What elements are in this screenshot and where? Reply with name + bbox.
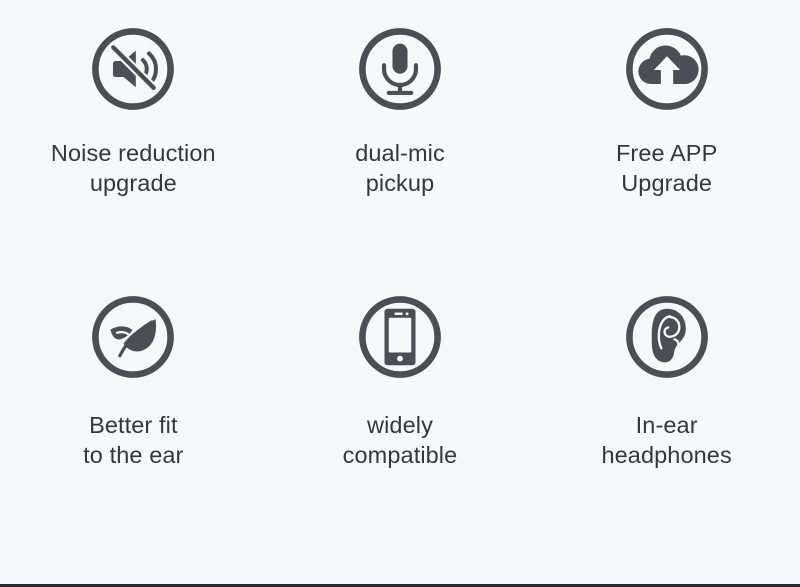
- feature-item-in-ear-headphones[interactable]: In-ear headphones: [533, 290, 800, 558]
- feature-label: In-ear headphones: [601, 410, 731, 470]
- feature-item-better-fit[interactable]: Better fit to the ear: [0, 290, 267, 558]
- ear-icon: [620, 290, 714, 384]
- feature-item-free-app-upgrade[interactable]: Free APP Upgrade: [533, 22, 800, 290]
- feature-label: Free APP Upgrade: [616, 138, 717, 198]
- feature-item-noise-reduction[interactable]: Noise reduction upgrade: [0, 22, 267, 290]
- smartphone-icon: [353, 290, 447, 384]
- feature-label: Better fit to the ear: [83, 410, 183, 470]
- feature-grid: Noise reduction upgrade dual-mic pickup …: [0, 0, 800, 584]
- feature-label: widely compatible: [343, 410, 458, 470]
- mute-speaker-icon: [86, 22, 180, 116]
- leaf-icon: [86, 290, 180, 384]
- feature-label: dual-mic pickup: [355, 138, 445, 198]
- feature-item-widely-compatible[interactable]: widely compatible: [267, 290, 534, 558]
- microphone-icon: [353, 22, 447, 116]
- feature-label: Noise reduction upgrade: [51, 138, 216, 198]
- feature-item-dual-mic[interactable]: dual-mic pickup: [267, 22, 534, 290]
- cloud-upload-icon: [620, 22, 714, 116]
